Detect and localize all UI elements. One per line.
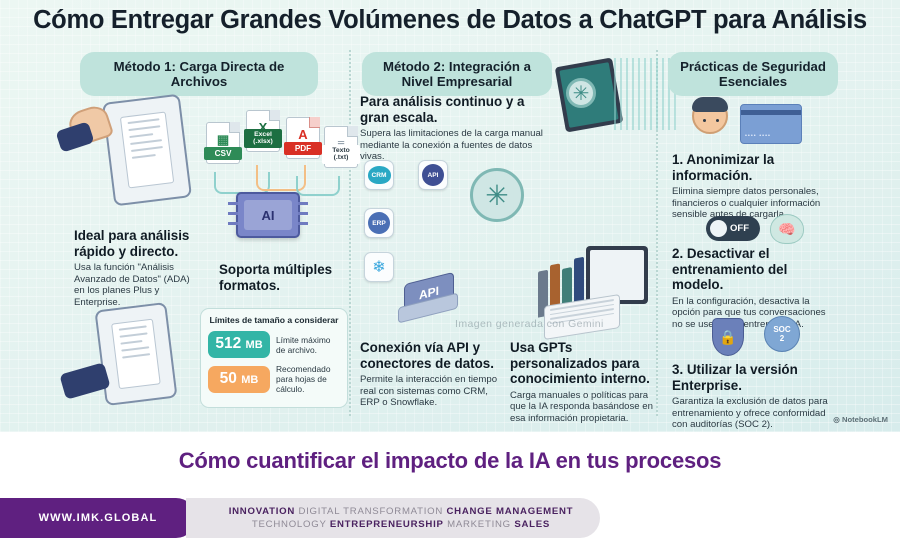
security-item-3-body: Garantiza la exclusión de datos para ent…: [672, 396, 836, 431]
security-item-1-heading: 1. Anonimizar la información.: [672, 152, 832, 183]
snowflake-badge: ❄: [364, 252, 394, 282]
keyword-digital-transformation: DIGITAL TRANSFORMATION: [298, 506, 443, 517]
chip-pin: [228, 202, 238, 205]
notebooklm-label: NotebookLM: [842, 415, 888, 424]
badge-50-text: Recomendado para hojas de cálculo.: [276, 364, 340, 394]
erp-badge: ERP: [364, 208, 394, 238]
middle-block-3: Usa GPTs personalizados para conocimient…: [510, 340, 658, 424]
excel-file-icon: X Excel (.xlsx): [246, 110, 280, 152]
chatgpt-logo-icon: ✳: [566, 78, 596, 108]
ai-chip-illustration: AI: [236, 192, 300, 238]
txt-file-icon: ≡ Texto (.txt): [324, 126, 358, 168]
middle-block-1-heading: Para análisis continuo y a gran escala.: [360, 94, 556, 125]
left-block-1-body: Usa la función "Análisis Avanzado de Dat…: [74, 262, 196, 308]
keyword-sales: SALES: [514, 519, 550, 530]
infographic-page: Cómo Entregar Grandes Volúmenes de Datos…: [0, 0, 900, 560]
middle-block-2-body: Permite la interacción en tiempo real co…: [360, 374, 500, 409]
soc2-badge-icon: SOC 2: [764, 316, 800, 352]
ai-chip-label: AI: [244, 200, 292, 230]
column-header-security: Prácticas de Seguridad Esenciales: [668, 52, 838, 96]
snowflake-icon: ❄: [372, 257, 385, 277]
training-toggle-switch[interactable]: OFF: [706, 216, 760, 241]
chip-pin: [298, 212, 308, 215]
keyword-technology: TECHNOLOGY: [252, 519, 327, 530]
keyword-entrepreneurship: ENTREPRENEURSHIP: [330, 519, 444, 530]
excel-label: Excel: [254, 131, 272, 138]
security-item-2-heading: 2. Desactivar el entrenamiento del model…: [672, 246, 834, 293]
notebooklm-credit: ◎ NotebookLM: [833, 415, 888, 424]
badge-50-unit: MB: [241, 374, 258, 386]
left-block-1-heading: Ideal para análisis rápido y directo.: [74, 228, 196, 259]
security-item-1-body: Elimina siempre datos personales, financ…: [672, 186, 832, 221]
column-header-method-2: Método 2: Integración a Nivel Empresaria…: [362, 52, 552, 96]
keyword-innovation: INNOVATION: [229, 506, 295, 517]
badge-512-unit: MB: [246, 339, 263, 351]
chip-pin: [298, 222, 308, 225]
tablet-secondary-illustration: [94, 302, 177, 406]
security-item-2-body: En la configuración, desactiva la opción…: [672, 296, 834, 331]
credit-card-illustration: •••• ••••: [740, 104, 802, 144]
column-header-method-1: Método 1: Carga Directa de Archivos: [80, 52, 318, 96]
middle-block-3-heading: Usa GPTs personalizados para conocimient…: [510, 340, 658, 387]
pdf-glyph: A: [298, 127, 307, 142]
avatar-eye-left: [703, 119, 706, 122]
document-page-icon-2: [111, 319, 161, 390]
middle-block-2: Conexión vía API y conectores de datos. …: [360, 340, 500, 409]
notebooklm-icon: ◎: [833, 415, 842, 424]
left-block-2: Soporta múltiples formatos.: [219, 262, 339, 293]
keywords-line-2: TECHNOLOGY ENTREPRENEURSHIP MARKETING SA…: [252, 518, 550, 531]
arm-sleeve: [55, 121, 94, 152]
security-item-2: 2. Desactivar el entrenamiento del model…: [672, 246, 834, 330]
keyword-change-management: CHANGE MANAGEMENT: [446, 506, 573, 517]
avatar-hair: [692, 97, 728, 112]
middle-block-2-heading: Conexión vía API y conectores de datos.: [360, 340, 500, 371]
pdf-file-icon: A PDF: [286, 117, 320, 159]
website-label: WWW.IMK.GLOBAL: [39, 512, 158, 524]
image-watermark: Imagen generada con Gemini: [455, 318, 604, 330]
security-item-1: 1. Anonimizar la información. Elimina si…: [672, 152, 832, 221]
chip-pin: [228, 212, 238, 215]
security-item-3-heading: 3. Utilizar la versión Enterprise.: [672, 362, 836, 393]
security-item-3: 3. Utilizar la versión Enterprise. Garan…: [672, 362, 836, 431]
infographic-canvas: Cómo Entregar Grandes Volúmenes de Datos…: [0, 0, 900, 432]
keyword-marketing: MARKETING: [447, 519, 511, 530]
middle-block-1: Para análisis continuo y a gran escala. …: [360, 94, 556, 163]
gpt-monitor-screen: [590, 250, 644, 300]
txt-label: Texto: [332, 147, 350, 154]
footer-bar: WWW.IMK.GLOBAL INNOVATION DIGITAL TRANSF…: [0, 490, 900, 560]
headline-strip: Cómo cuantificar el impacto de la IA en …: [0, 432, 900, 490]
badge-50mb: 50 MB: [208, 366, 270, 393]
txt-sub: (.txt): [334, 154, 349, 161]
csv-label: CSV: [204, 147, 242, 160]
badge-50-value: 50: [220, 370, 237, 387]
avatar-eye-right: [716, 119, 719, 122]
left-block-2-heading: Soporta múltiples formatos.: [219, 262, 339, 293]
excel-sub: (.xlsx): [253, 138, 273, 145]
connector-tube-3: [296, 176, 340, 196]
chatgpt-hub-icon: ✳: [470, 168, 524, 222]
csv-file-icon: ▦ CSV: [206, 122, 240, 164]
card-magnetic-stripe: [741, 110, 801, 115]
toggle-knob: [710, 220, 727, 237]
erp-label: ERP: [368, 212, 390, 234]
card-number-dots: •••• ••••: [745, 133, 771, 139]
badge-512-text: Límite máximo de archivo.: [276, 335, 340, 355]
csv-glyph: ▦: [217, 132, 229, 148]
middle-block-1-body: Supera las limitaciones de la carga manu…: [360, 128, 556, 163]
document-page-icon: [120, 111, 174, 188]
api-badge: API: [418, 160, 448, 190]
keywords-line-1: INNOVATION DIGITAL TRANSFORMATION CHANGE…: [229, 505, 574, 518]
column-divider-1: [349, 50, 351, 416]
size-limits-title: Límites de tamaño a considerar: [208, 315, 340, 325]
crm-label: CRM: [368, 166, 391, 184]
brain-icon: 🧠: [770, 214, 804, 244]
badge-512mb: 512 MB: [208, 331, 270, 358]
api-label: API: [422, 164, 444, 186]
middle-block-3-body: Carga manuales o políticas para que la I…: [510, 390, 658, 425]
soc-line-1: SOC: [773, 325, 790, 334]
user-avatar-illustration: [692, 98, 728, 134]
size-limit-row-50: 50 MB Recomendado para hojas de cálculo.: [208, 364, 340, 394]
strip-title: Cómo cuantificar el impacto de la IA en …: [179, 448, 722, 474]
toggle-label: OFF: [730, 223, 749, 234]
arm-sleeve-2: [59, 362, 110, 400]
size-limit-row-512: 512 MB Límite máximo de archivo.: [208, 331, 340, 358]
crm-badge: CRM: [364, 160, 394, 190]
website-pill[interactable]: WWW.IMK.GLOBAL: [0, 498, 196, 538]
badge-512-value: 512: [215, 335, 241, 352]
tablet-upload-illustration: [102, 94, 192, 207]
pdf-label: PDF: [284, 142, 322, 155]
soc-line-2: 2: [780, 334, 784, 343]
left-block-1: Ideal para análisis rápido y directo. Us…: [74, 228, 196, 308]
keywords-band: INNOVATION DIGITAL TRANSFORMATION CHANGE…: [186, 498, 600, 538]
page-title: Cómo Entregar Grandes Volúmenes de Datos…: [0, 6, 900, 35]
chip-pin: [298, 202, 308, 205]
shield-icon: 🔒: [712, 318, 744, 356]
size-limits-card: Límites de tamaño a considerar 512 MB Lí…: [200, 308, 348, 408]
chip-pin: [228, 222, 238, 225]
